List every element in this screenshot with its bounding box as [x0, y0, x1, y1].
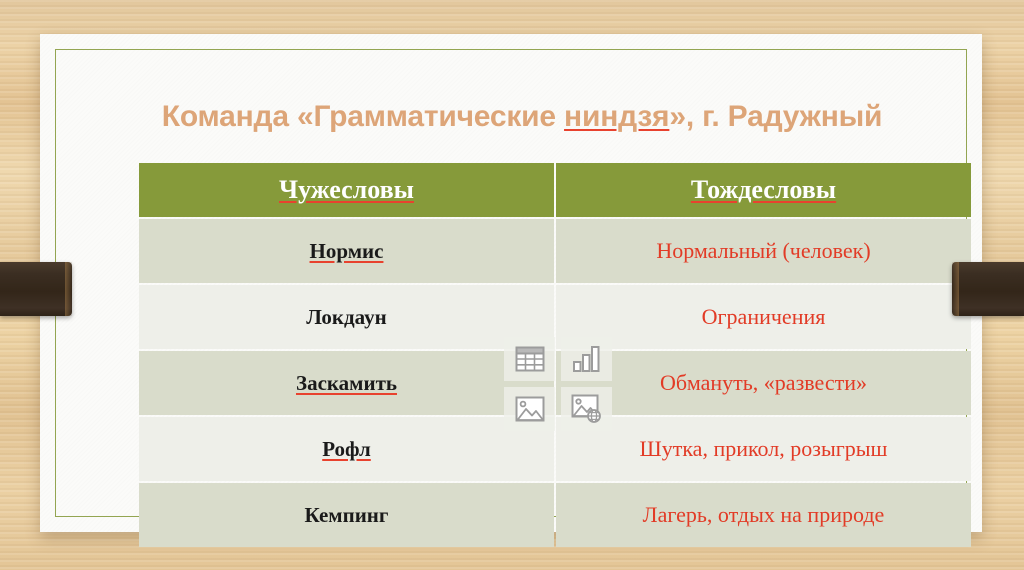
table-cell-gloss: Нормальный (человек): [556, 219, 971, 283]
title-prefix: Команда «Грамматические: [162, 100, 564, 133]
column-header-equivalent-words: Тождесловы: [556, 163, 971, 217]
decorative-tab-right: [952, 262, 1024, 316]
term-text: Заскамить: [296, 371, 397, 395]
term-text: Нормис: [310, 239, 384, 263]
table-cell-term: Локдаун: [139, 285, 554, 349]
insert-chart-button[interactable]: [561, 337, 612, 381]
slide-stage: Команда «Грамматические ниндзя», г. Раду…: [0, 0, 1024, 570]
gloss-text: Обмануть, «развести»: [660, 370, 867, 395]
insert-chart-icon: [572, 345, 602, 373]
table-cell-gloss: Лагерь, отдых на природе: [556, 483, 971, 547]
gloss-text: Ограничения: [702, 304, 826, 329]
column-header-label: Тождесловы: [691, 175, 836, 204]
table-cell-term: Кемпинг: [139, 483, 554, 547]
slide-card: Команда «Грамматические ниндзя», г. Раду…: [40, 34, 982, 532]
table-cell-gloss: Шутка, прикол, розыгрыш: [556, 417, 971, 481]
gloss-text: Нормальный (человек): [656, 238, 870, 263]
insert-table-icon: [515, 346, 545, 372]
online-pictures-icon: [571, 394, 603, 424]
term-text: Рофл: [322, 437, 371, 461]
title-suffix: », г. Радужный: [669, 100, 882, 133]
gloss-text: Лагерь, отдых на природе: [643, 502, 885, 527]
column-header-label: Чужесловы: [279, 175, 414, 204]
table-cell-term: Рофл: [139, 417, 554, 481]
table-row: Кемпинг Лагерь, отдых на природе: [139, 483, 971, 547]
table-cell-term: Нормис: [139, 219, 554, 283]
table-header-row: Чужесловы Тождесловы: [139, 163, 971, 217]
term-text: Локдаун: [306, 305, 386, 329]
insert-picture-icon: [515, 396, 545, 422]
table-cell-term: Заскамить: [139, 351, 554, 415]
table-row: Нормис Нормальный (человек): [139, 219, 971, 283]
online-pictures-button[interactable]: [561, 387, 612, 431]
table-cell-gloss: Обмануть, «развести»: [556, 351, 971, 415]
title-misspelled-word: ниндзя: [564, 100, 669, 133]
table-cell-gloss: Ограничения: [556, 285, 971, 349]
content-placeholder-icons: [504, 337, 612, 431]
decorative-tab-left: [0, 262, 72, 316]
term-text: Кемпинг: [305, 503, 389, 527]
gloss-text: Шутка, прикол, розыгрыш: [640, 436, 888, 461]
insert-table-button[interactable]: [504, 337, 555, 381]
column-header-foreign-words: Чужесловы: [139, 163, 554, 217]
insert-picture-button[interactable]: [504, 387, 555, 431]
page-title: Команда «Грамматические ниндзя», г. Раду…: [100, 100, 944, 134]
